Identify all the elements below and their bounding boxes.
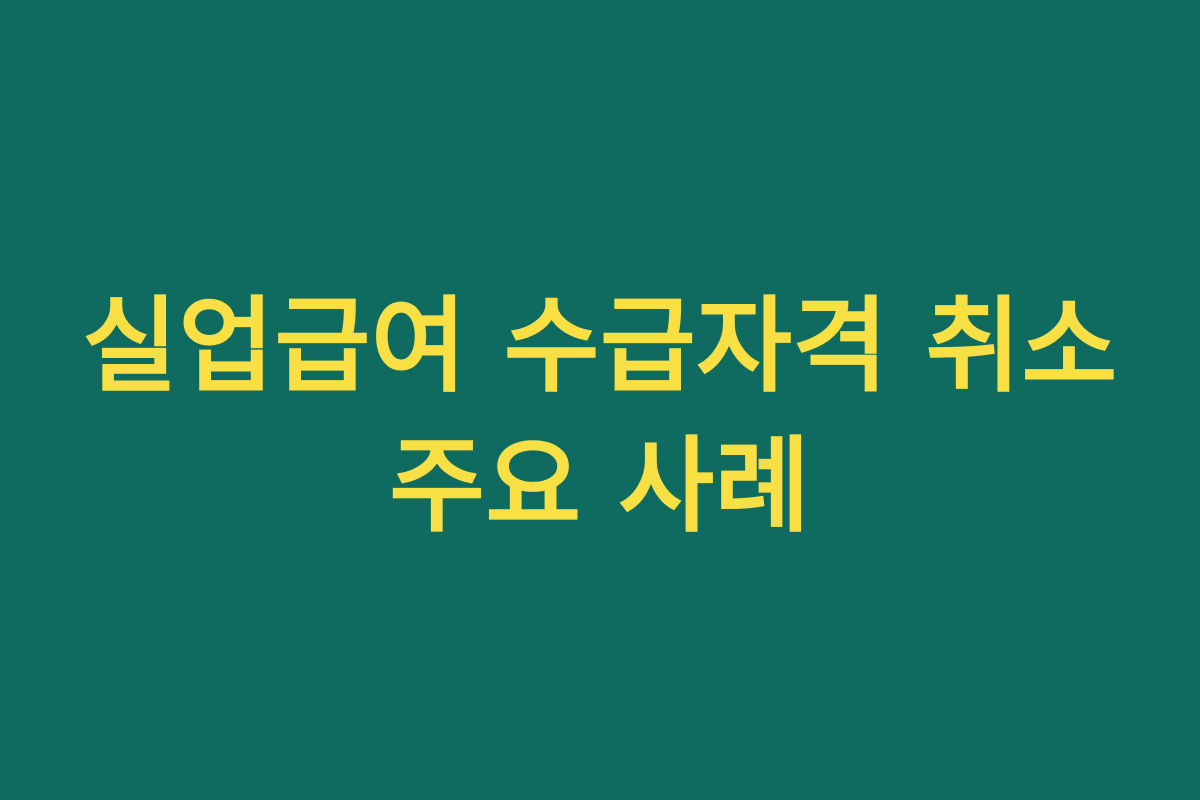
headline-line-2: 주요 사례 [389, 419, 811, 554]
banner-canvas: 실업급여 수급자격 취소 주요 사례 [0, 0, 1200, 800]
headline-block: 실업급여 수급자격 취소 주요 사례 [0, 278, 1200, 554]
headline-line-1: 실업급여 수급자격 취소 [82, 278, 1117, 415]
